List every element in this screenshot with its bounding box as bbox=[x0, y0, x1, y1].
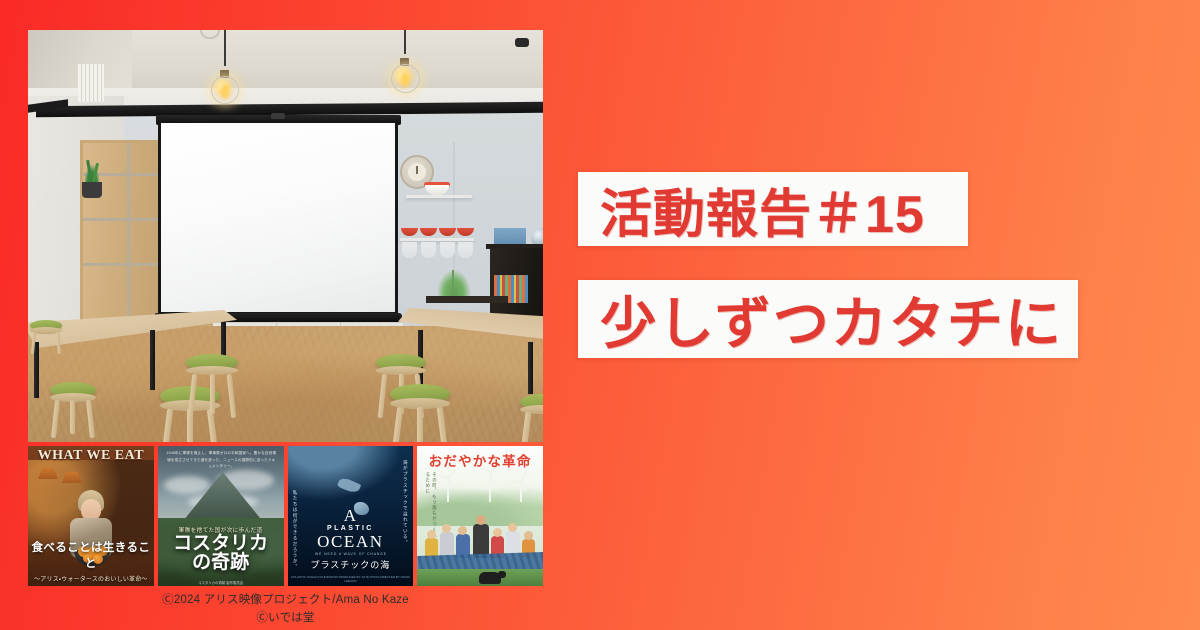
bulb-filament-right bbox=[403, 74, 407, 85]
side-table-plant bbox=[436, 268, 472, 298]
headline-line-2: 少しずつカタチに bbox=[600, 279, 1063, 360]
poster-2-credit: コスタリカの奇跡 製作委員会 bbox=[158, 580, 284, 585]
poster-4-people-group bbox=[423, 514, 538, 558]
table-left-leg-2 bbox=[150, 330, 155, 390]
poster-1-person bbox=[62, 490, 120, 586]
glass-bowl-2 bbox=[421, 242, 436, 258]
poster-3-title-jp: プラスチックの海 bbox=[288, 558, 414, 571]
table-left-leg-1 bbox=[34, 342, 39, 398]
shelf-books bbox=[78, 64, 104, 102]
wall-shelf-upper bbox=[406, 195, 472, 198]
glass-bowl-1 bbox=[402, 242, 417, 258]
poster-3-title-a: A bbox=[288, 508, 414, 524]
poster-4-cow-head bbox=[498, 571, 506, 578]
poster-1-title-jp: 食べることは生きること bbox=[28, 539, 154, 571]
copyright-line-1: Ⓒ2024 アリス映像プロジェクト/Ama No Kaze bbox=[162, 594, 409, 606]
glass-bowl-3 bbox=[440, 242, 455, 258]
headline-line-1: 活動報告＃15 bbox=[600, 172, 925, 247]
plant-stem bbox=[452, 270, 454, 296]
bulb-filament-left bbox=[223, 86, 227, 97]
poster-what-we-eat[interactable]: WHAT WE EAT 食べることは生きること 〜アリス・ウォータースのおいしい… bbox=[28, 446, 154, 586]
poster-2-top-text: 1948年に軍隊を廃止し、軍事費ゼロの平和国家へ。豊かな自然環境を成立させてきた… bbox=[166, 450, 277, 470]
pendant-cord-left bbox=[224, 30, 226, 66]
photo-card: WHAT WE EAT 食べることは生きること 〜アリス・ウォータースのおいしい… bbox=[28, 30, 543, 586]
headline-box-primary: 活動報告＃15 bbox=[578, 172, 968, 246]
clock-hand bbox=[416, 166, 418, 174]
poster-3-credits: A PLASTIC OCEAN FOUNDATION PRODUCED BY J… bbox=[288, 575, 414, 584]
poster-odayakana-kakumei[interactable]: おだやかな革命 その町、もう誰もがつくれる しなやかに生きるために bbox=[417, 446, 543, 586]
side-table bbox=[426, 296, 508, 303]
poster-3-title-ocean: OCEAN bbox=[288, 532, 414, 552]
wall-shelf-lower bbox=[400, 238, 474, 241]
poster-4-title: おだやかな革命 bbox=[417, 450, 543, 470]
screen-knob bbox=[271, 113, 285, 119]
copyright-block: Ⓒ2024 アリス映像プロジェクト/Ama No Kaze Ⓒいでは堂 bbox=[28, 592, 543, 628]
poster-3-title-plastic: PLASTIC bbox=[288, 525, 414, 532]
film-poster-strip: WHAT WE EAT 食べることは生きること 〜アリス・ウォータースのおいしい… bbox=[28, 446, 543, 586]
projector-screen bbox=[158, 123, 398, 315]
poster-1-subtitle: 〜アリス・ウォータースのおいしい革命〜 bbox=[28, 574, 154, 583]
table-left-leg-3 bbox=[221, 322, 226, 356]
table-right-leg-2 bbox=[528, 342, 533, 394]
ceiling-speaker-icon bbox=[515, 38, 529, 47]
poster-3-rule-line: WE NEED A WAVE OF CHANGE bbox=[310, 552, 393, 556]
glass-bowl-4 bbox=[458, 242, 473, 258]
poster-costa-rica[interactable]: 1948年に軍隊を廃止し、軍事費ゼロの平和国家へ。豊かな自然環境を成立させてきた… bbox=[158, 446, 284, 586]
seminar-room-photo bbox=[28, 30, 543, 442]
poster-1-title-en: WHAT WE EAT bbox=[28, 448, 154, 464]
copyright-line-2: Ⓒいでは堂 bbox=[28, 610, 543, 628]
poster-2-title: コスタリカの奇跡 bbox=[158, 534, 284, 573]
headline-box-secondary: 少しずつカタチに bbox=[578, 280, 1078, 358]
shelf-plant-pot bbox=[82, 182, 102, 198]
pendant-cord-right bbox=[404, 30, 406, 54]
poster-a-plastic-ocean[interactable]: 海がプラスチックで溢れている。 私たちは何ができるだろうか。 A PLASTIC… bbox=[288, 446, 414, 586]
osb-floor bbox=[28, 326, 543, 442]
